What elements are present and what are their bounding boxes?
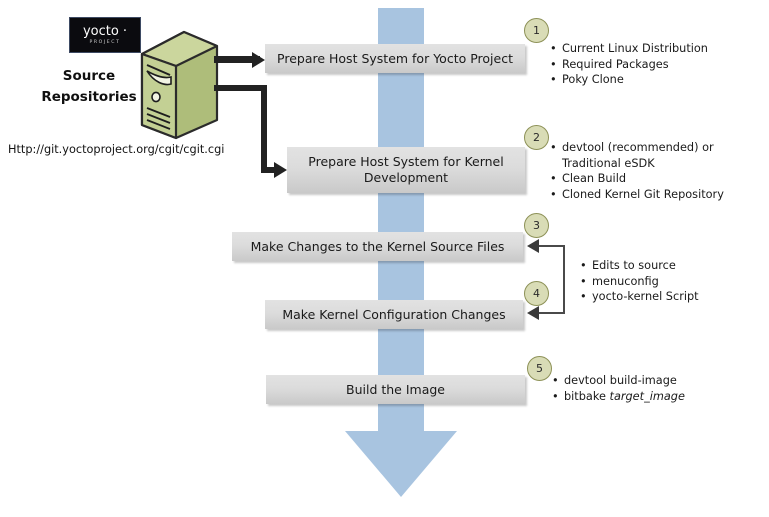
source-label-line2: Repositories	[34, 87, 144, 108]
bitbake-target-image-italic: target_image	[610, 390, 685, 403]
process-box-step3[interactable]: Make Changes to the Kernel Source Files	[232, 232, 523, 261]
step-number-1: 1	[524, 18, 549, 43]
connector-source-to-step2-arrowhead	[274, 162, 287, 178]
list-item: Required Packages	[550, 57, 750, 73]
bullet-list-steps-3-and-4: Edits to source menuconfig yocto-kernel …	[580, 258, 755, 305]
step-number-3: 3	[524, 213, 549, 238]
main-flow-arrow-head	[345, 431, 457, 497]
feedback-arrowhead-step4	[527, 306, 539, 320]
step-number-4: 4	[524, 281, 549, 306]
feedback-bracket-top	[539, 245, 565, 247]
feedback-arrowhead-step3	[527, 239, 539, 253]
connector-source-to-step2-vertical	[261, 85, 267, 173]
process-box-step5[interactable]: Build the Image	[266, 375, 525, 404]
connector-source-to-step2-horizontal-top	[214, 85, 267, 91]
source-repositories-label: Source Repositories	[34, 66, 144, 108]
list-item: devtool build-image	[552, 373, 752, 389]
list-item: Clean Build	[550, 171, 755, 187]
feedback-bracket-bottom	[539, 312, 565, 314]
list-item: devtool (recommended) or Traditional eSD…	[550, 140, 755, 171]
logo-subtext: PROJECT	[89, 39, 120, 46]
list-item: yocto-kernel Script	[580, 289, 755, 305]
step-number-2: 2	[524, 125, 549, 150]
diagram-canvas: yocto · PROJECT Source Repositories Http…	[0, 0, 769, 517]
yocto-project-logo: yocto · PROJECT	[69, 17, 141, 53]
server-tower-icon	[136, 28, 222, 140]
list-item: Poky Clone	[550, 72, 750, 88]
process-box-step4[interactable]: Make Kernel Configuration Changes	[265, 300, 523, 329]
source-repositories-url: Http://git.yoctoproject.org/cgit/cgit.cg…	[8, 143, 224, 156]
list-item: Current Linux Distribution	[550, 41, 750, 57]
connector-source-to-step1-arrowhead	[252, 52, 265, 68]
list-item: menuconfig	[580, 274, 755, 290]
feedback-bracket-vertical	[563, 245, 565, 314]
source-label-line1: Source	[34, 66, 144, 87]
bullet-list-step5: devtool build-image bitbake target_image	[552, 373, 752, 404]
list-item: Edits to source	[580, 258, 755, 274]
process-box-step2[interactable]: Prepare Host System for Kernel Developme…	[287, 147, 525, 193]
list-item: Cloned Kernel Git Repository	[550, 187, 755, 203]
process-box-step1[interactable]: Prepare Host System for Yocto Project	[265, 44, 525, 73]
list-item: bitbake target_image	[552, 389, 752, 405]
bullet-list-step2: devtool (recommended) or Traditional eSD…	[550, 140, 755, 202]
logo-wordmark: yocto ·	[83, 25, 127, 38]
bitbake-command-prefix: bitbake	[564, 390, 610, 403]
bullet-list-step1: Current Linux Distribution Required Pack…	[550, 41, 750, 88]
step-number-5: 5	[527, 356, 552, 381]
